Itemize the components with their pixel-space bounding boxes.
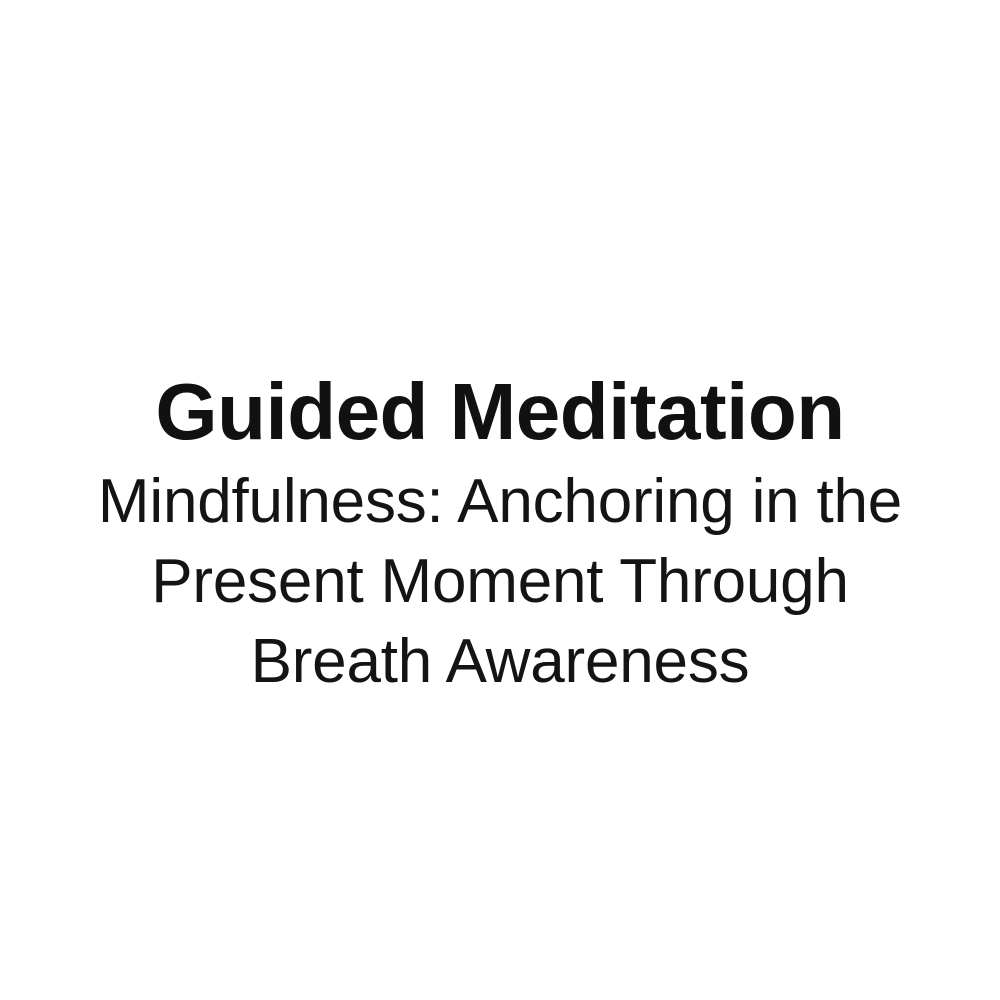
page-subtitle: Mindfulness: Anchoring in the Present Mo… xyxy=(60,456,940,702)
page-title: Guided Meditation xyxy=(28,368,972,456)
title-block: Guided Meditation Mindfulness: Anchoring… xyxy=(0,368,1000,702)
title-card: Guided Meditation Mindfulness: Anchoring… xyxy=(0,0,1000,1000)
